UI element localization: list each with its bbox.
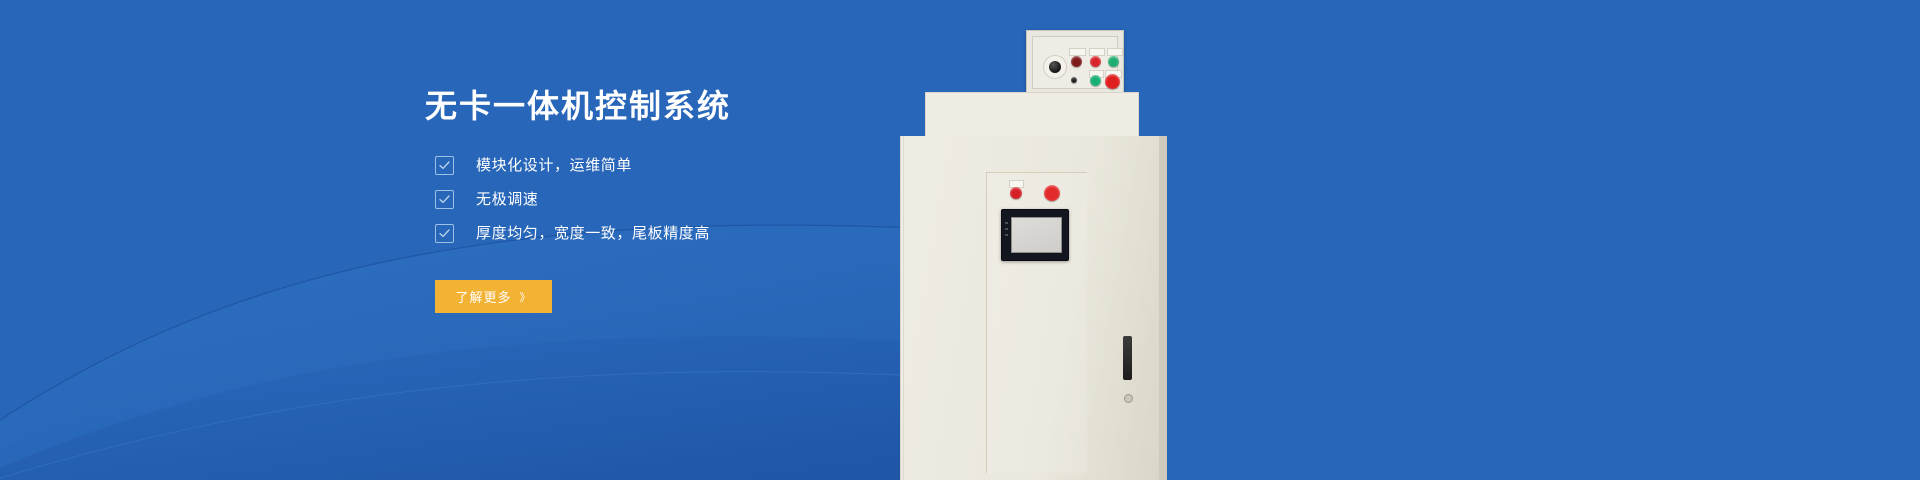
door-lock[interactable] (1124, 394, 1133, 403)
product-image (900, 0, 1200, 480)
hmi-function-keys[interactable] (1005, 222, 1008, 240)
cabinet-body (900, 136, 1167, 480)
indicator-dark-red[interactable] (1071, 56, 1082, 67)
check-square-icon (435, 224, 454, 243)
push-button-red[interactable] (1090, 56, 1101, 67)
learn-more-label: 了解更多 (455, 287, 511, 306)
push-button-green[interactable] (1108, 56, 1119, 67)
feature-label: 厚度均匀，宽度一致，尾板精度高 (476, 226, 710, 241)
push-button-green-2[interactable] (1090, 75, 1101, 86)
feature-list: 模块化设计，运维简单 无极调速 厚度均匀，宽度一致，尾板精度高 (435, 156, 895, 243)
emergency-stop-red[interactable] (1105, 74, 1120, 89)
button-label-tag (1069, 48, 1086, 56)
button-label-tag (1107, 48, 1123, 56)
feature-label: 无极调速 (476, 192, 538, 207)
chevron-right-icon: 》 (520, 289, 532, 305)
button-label-tag (1089, 48, 1105, 56)
control-box (1026, 30, 1124, 94)
hero-banner: 无卡一体机控制系统 模块化设计，运维简单 无极调速 (0, 0, 1920, 480)
page-title: 无卡一体机控制系统 (425, 86, 895, 126)
push-button-black-small[interactable] (1071, 77, 1077, 83)
learn-more-button[interactable]: 了解更多 》 (435, 280, 552, 313)
cabinet-top-cap (925, 92, 1139, 140)
check-square-icon (435, 190, 454, 209)
list-item: 厚度均匀，宽度一致，尾板精度高 (435, 224, 895, 243)
list-item: 模块化设计，运维简单 (435, 156, 895, 175)
hmi-touchscreen[interactable] (1001, 209, 1069, 261)
hmi-display[interactable] (1011, 217, 1062, 253)
list-item: 无极调速 (435, 190, 895, 209)
rotary-selector-knob[interactable] (1043, 55, 1067, 79)
control-box-faceplate (1032, 36, 1118, 89)
check-square-icon (435, 156, 454, 175)
door-handle[interactable] (1123, 336, 1132, 380)
indicator-light-red[interactable] (1010, 187, 1022, 199)
hero-content: 无卡一体机控制系统 模块化设计，运维简单 无极调速 (425, 86, 895, 313)
emergency-stop-button[interactable] (1044, 185, 1060, 201)
feature-label: 模块化设计，运维简单 (476, 158, 632, 173)
cabinet-side-edge (1159, 136, 1167, 480)
door-seam (903, 136, 904, 480)
